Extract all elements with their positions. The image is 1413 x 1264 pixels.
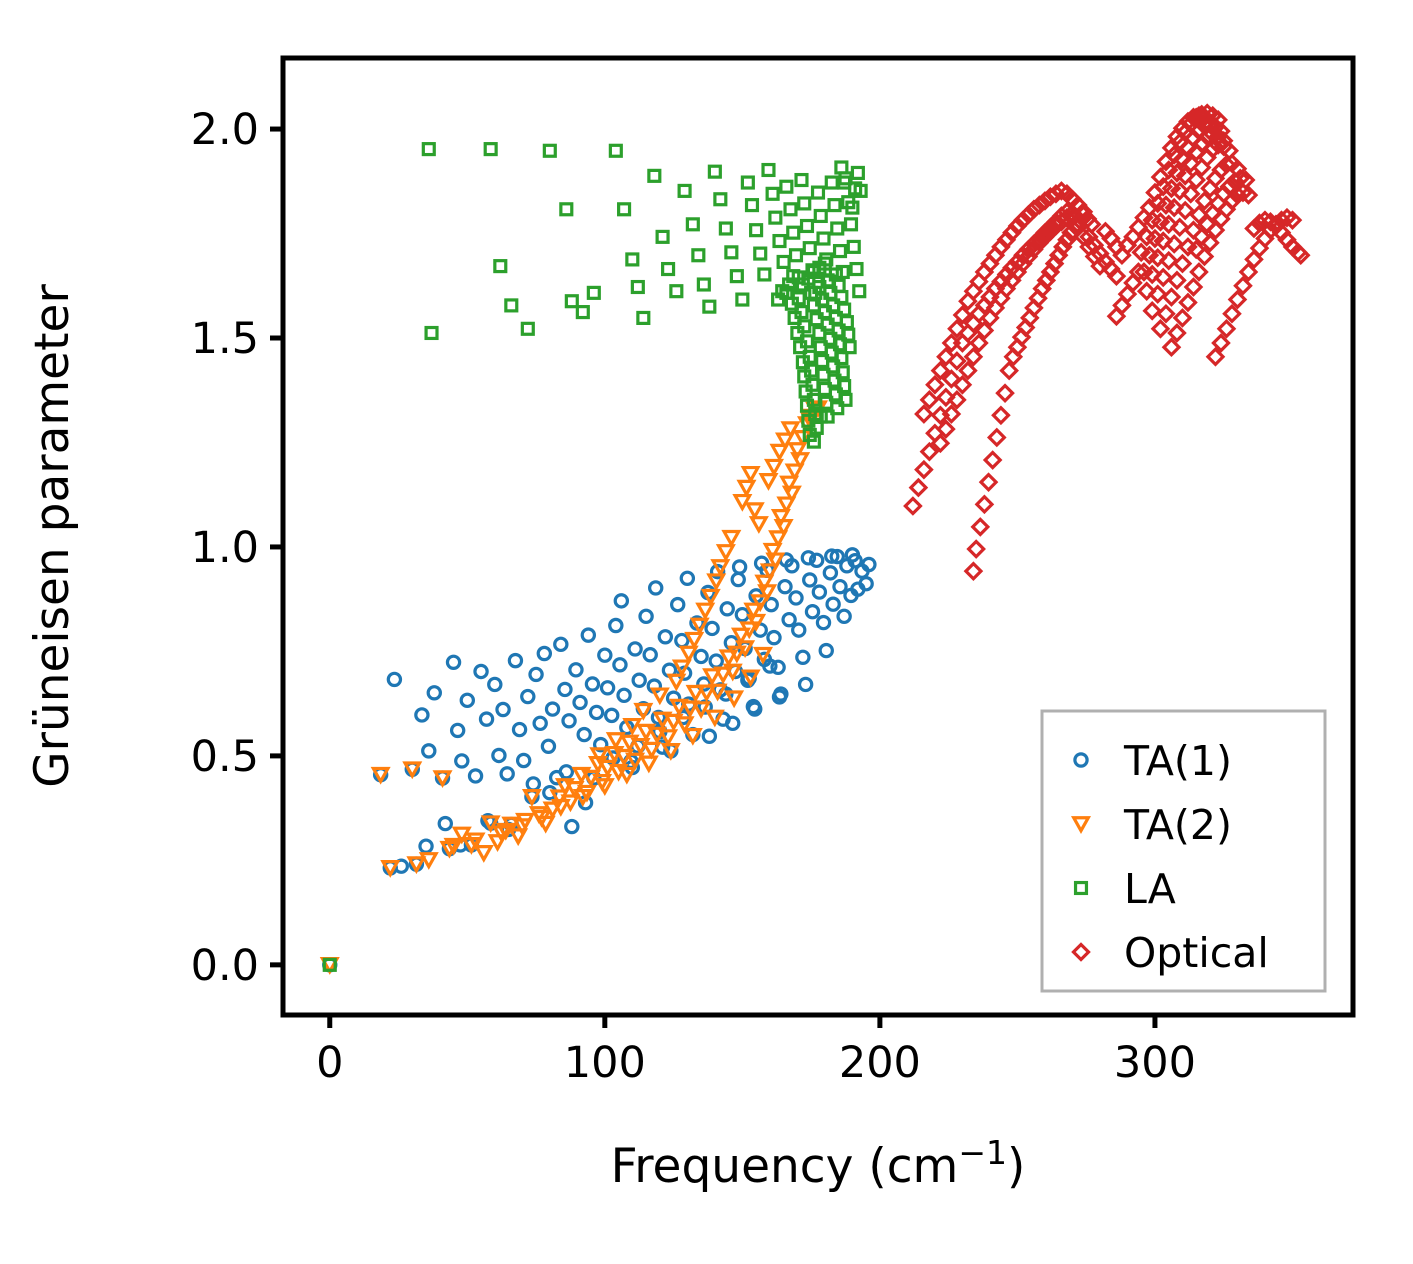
y-tick-label: 0.5: [191, 732, 259, 782]
x-tick-label: 200: [839, 1038, 921, 1088]
legend[interactable]: TA(1)TA(2)LAOptical: [1042, 711, 1325, 991]
legend-label-ta2: TA(2): [1123, 801, 1232, 849]
y-tick-label: 1.0: [191, 523, 259, 573]
y-axis-label: Grüneisen parameter: [25, 284, 80, 788]
x-tick-label: 100: [564, 1038, 646, 1088]
legend-label-optical: Optical: [1124, 929, 1269, 977]
legend-label-la: LA: [1124, 865, 1176, 913]
legend-label-ta1: TA(1): [1123, 737, 1232, 785]
y-tick-label: 2.0: [191, 105, 259, 155]
x-tick-label: 300: [1114, 1038, 1196, 1088]
scatter-plot: 0100200300 0.00.51.01.52.0 Frequency (cm…: [0, 0, 1413, 1264]
x-tick-label: 0: [316, 1038, 343, 1088]
figure-container: 0100200300 0.00.51.01.52.0 Frequency (cm…: [0, 0, 1413, 1264]
y-tick-label: 1.5: [191, 314, 259, 364]
y-tick-label: 0.0: [191, 941, 259, 991]
